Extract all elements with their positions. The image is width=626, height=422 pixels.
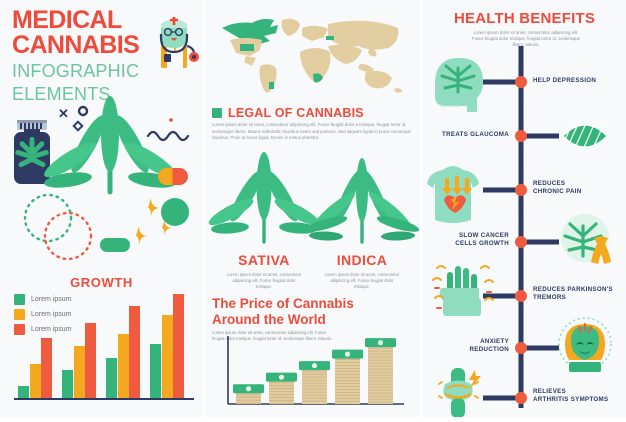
growth-bar	[129, 306, 140, 398]
growth-bar	[173, 294, 184, 398]
strain-body: Lorem ipsum dolor sit amet, consectetur …	[312, 272, 412, 290]
growth-bar	[74, 346, 85, 398]
legal-of-cannabis-heading: LEGAL OF CANNABIS	[212, 106, 364, 120]
price-title-line1: The Price of Cannabis	[212, 296, 402, 312]
pill-oval-icon	[100, 238, 130, 252]
legal-body-text: Lorem ipsum dolor sit amet, consectetur …	[212, 122, 412, 142]
growth-chart-bars	[18, 294, 194, 398]
infographic-page: MEDICAL CANNABIS INFOGRAPHIC ELEMENTS	[0, 0, 626, 417]
pill-round-icon	[161, 198, 189, 226]
strain-leaves-group	[206, 150, 420, 250]
green-square-icon	[212, 108, 222, 118]
timeline-dot	[515, 184, 527, 196]
timeline-label-reduces-parkinsons-tremors: REDUCES PARKINSON'S TREMORS	[533, 286, 625, 302]
indica-leaf-icon	[303, 158, 420, 242]
knee-joint-icon	[439, 368, 481, 417]
timeline-dot	[515, 76, 527, 88]
strain-sativa: SATIVA Lorem ipsum dolor sit amet, conse…	[214, 252, 314, 290]
growth-bar	[62, 370, 73, 398]
eye-icon	[563, 121, 607, 150]
title-line-medical: MEDICAL	[12, 8, 162, 33]
price-money-chart	[206, 330, 420, 414]
subtitle-infographic: INFOGRAPHIC	[12, 61, 162, 81]
timeline-dot	[515, 130, 527, 142]
timeline-dot	[515, 392, 527, 404]
timeline-label-line: TREATS GLAUCOMA	[423, 131, 509, 139]
timeline-label-line: RELIEVES	[533, 388, 625, 396]
growth-bar	[118, 334, 129, 398]
timeline-label-line: REDUCTION	[423, 346, 509, 354]
growth-chart-axis	[14, 398, 194, 400]
cancer-ribbon-leaf-icon	[561, 214, 611, 264]
timeline-label-slow-cancer-cells-growth: SLOW CANCER CELLS GROWTH	[423, 232, 509, 248]
svg-text:✕: ✕	[58, 106, 69, 121]
growth-bar	[30, 364, 41, 398]
head-leaf-icon	[435, 58, 483, 112]
calm-face-icon	[559, 318, 611, 372]
timeline-label-line: ANXIETY	[423, 338, 509, 346]
world-map	[210, 8, 416, 96]
timeline-label-line: REDUCES	[533, 180, 623, 188]
legal-title: LEGAL OF CANNABIS	[228, 106, 364, 120]
growth-bar	[106, 358, 117, 398]
strain-name: INDICA	[312, 252, 412, 268]
timeline-label-anxiety-reduction: ANXIETY REDUCTION	[423, 338, 509, 354]
timeline-label-line: SLOW CANCER	[423, 232, 509, 240]
strain-name: SATIVA	[214, 252, 314, 268]
capsule-icon	[158, 168, 188, 185]
health-benefits-timeline: HELP DEPRESSION TREATS GLAUCOMA REDUCES …	[423, 46, 626, 417]
timeline-label-line: REDUCES PARKINSON'S	[533, 286, 625, 294]
timeline-label-reduces-chronic-pain: REDUCES CHRONIC PAIN	[533, 180, 623, 196]
sativa-leaf-icon	[206, 152, 322, 242]
health-benefits-title: HEALTH BENEFITS	[423, 10, 626, 27]
growth-bar	[18, 386, 29, 398]
growth-bar	[150, 344, 161, 398]
timeline-label-relieves-arthritis-symptoms: RELIEVES ARTHRITIS SYMPTOMS	[533, 388, 625, 404]
growth-chart: GROWTH Lorem ipsum Lorem ipsum Lorem ips…	[0, 270, 203, 417]
title-line-cannabis: CANNABIS	[12, 33, 162, 58]
torso-pain-icon	[427, 166, 479, 223]
timeline-label-line: ARTHRITIS SYMPTOMS	[533, 396, 625, 404]
price-section-title: The Price of Cannabis Around the World	[212, 296, 402, 328]
timeline-label-line: TREMORS	[533, 294, 625, 302]
timeline-label-line: CHRONIC PAIN	[533, 188, 623, 196]
decorative-elements-group: ✕	[0, 96, 203, 266]
timeline-label-line: HELP DEPRESSION	[533, 77, 623, 85]
timeline-dot	[515, 236, 527, 248]
strain-body: Lorem ipsum dolor sit amet, consectetur …	[214, 272, 314, 290]
page-title: MEDICAL CANNABIS INFOGRAPHIC ELEMENTS	[12, 8, 162, 104]
price-title-line2: Around the World	[212, 312, 402, 328]
timeline-label-line: CELLS GROWTH	[423, 240, 509, 248]
growth-bar	[85, 323, 96, 398]
doctor-stethoscope-icon	[143, 12, 205, 74]
timeline-dot	[515, 290, 527, 302]
strain-indica: INDICA Lorem ipsum dolor sit amet, conse…	[312, 252, 412, 290]
growth-bar	[41, 338, 52, 398]
growth-chart-title: GROWTH	[0, 275, 203, 290]
timeline-label-treats-glaucoma: TREATS GLAUCOMA	[423, 131, 509, 139]
growth-bar	[162, 315, 173, 398]
timeline-label-help-depression: HELP DEPRESSION	[533, 77, 623, 85]
trembling-hand-icon	[433, 266, 493, 316]
timeline-dot	[515, 342, 527, 354]
